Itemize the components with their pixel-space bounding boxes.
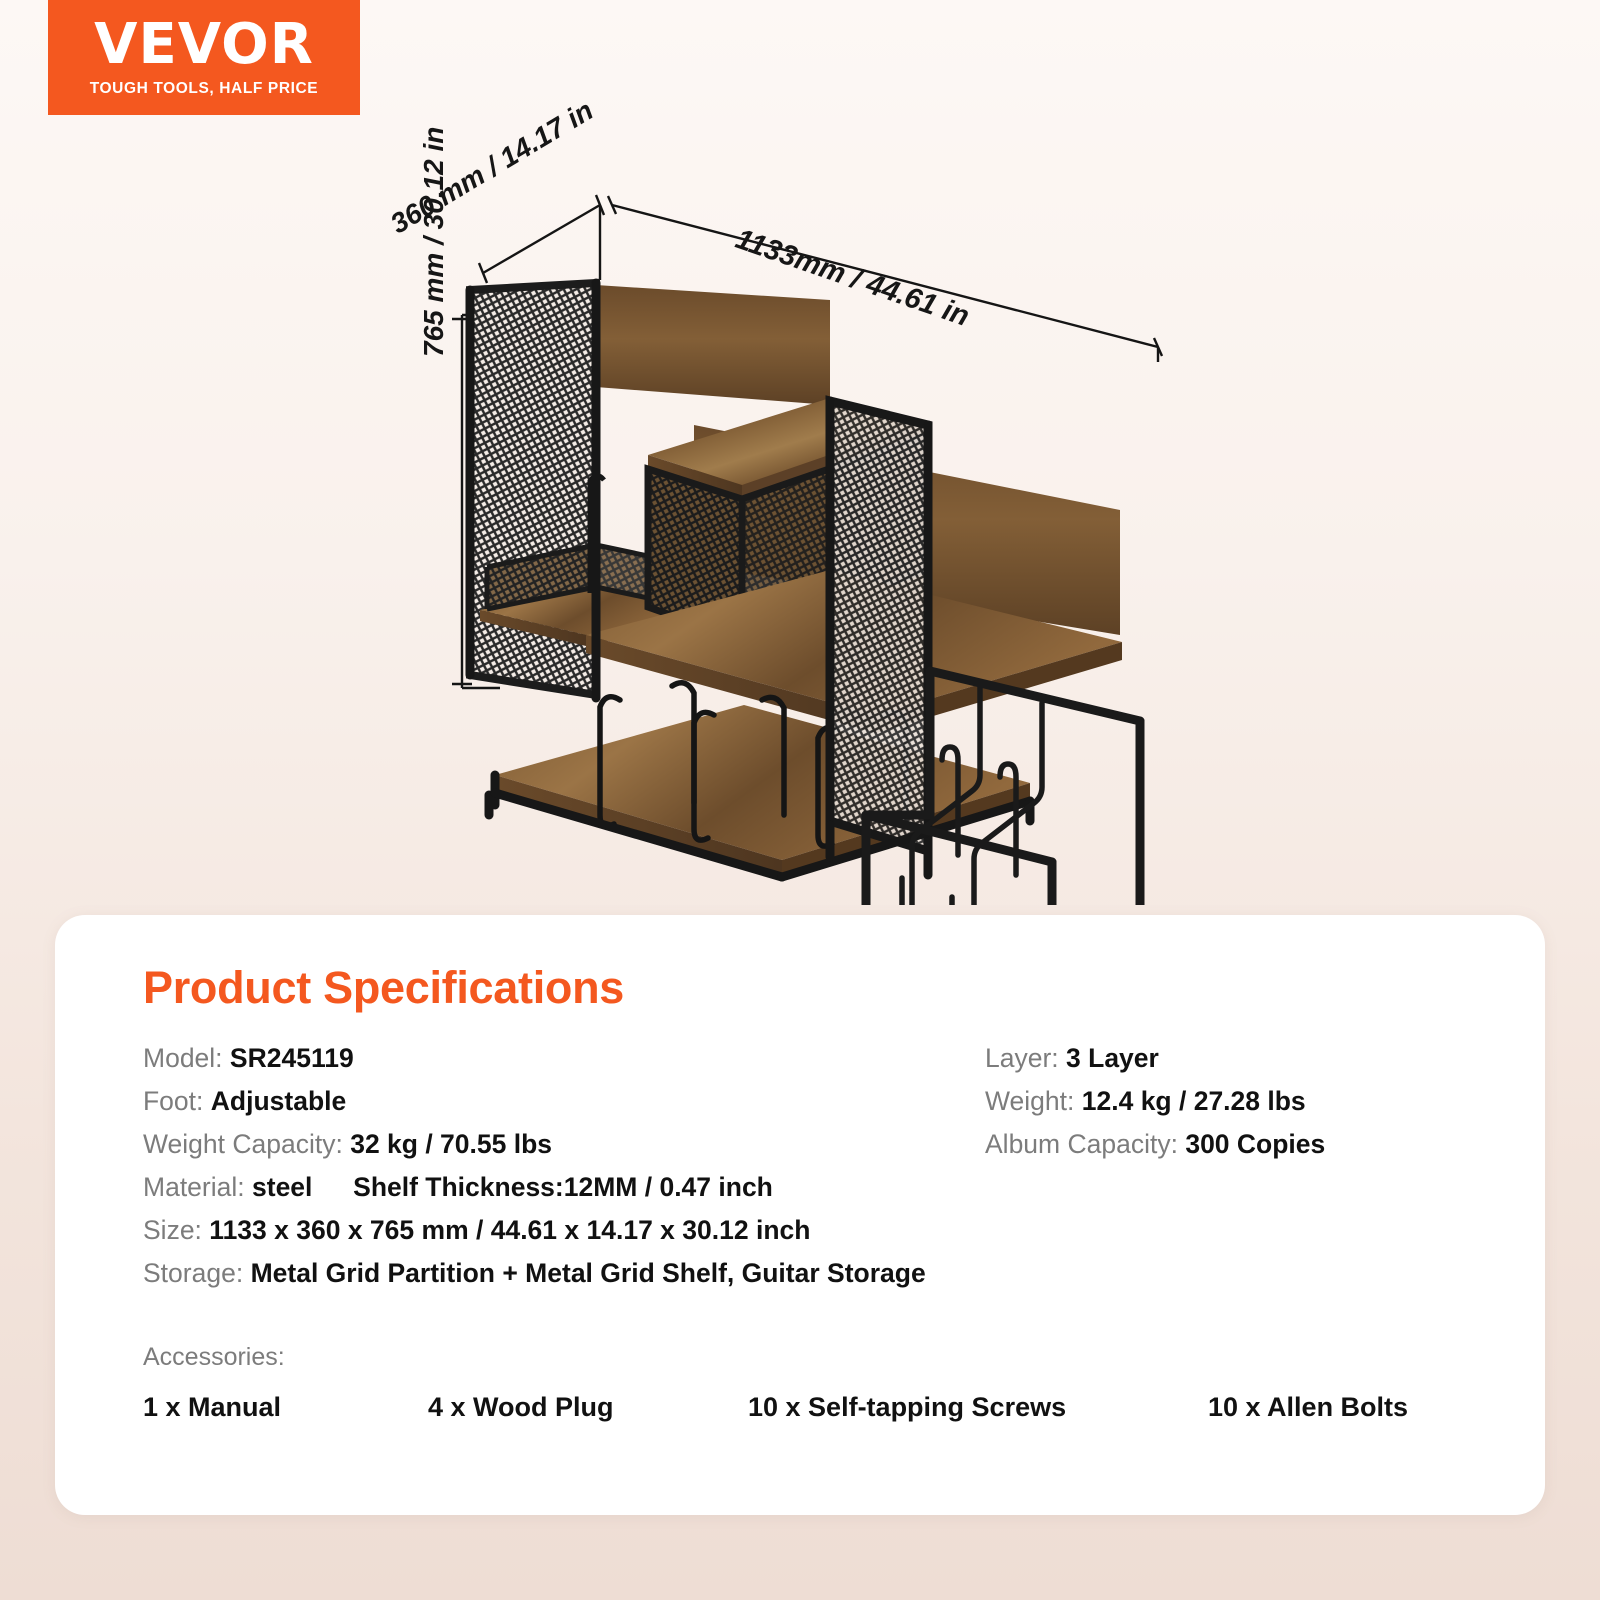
spec-row-album-capacity: Album Capacity: 300 Copies bbox=[985, 1123, 1505, 1166]
spec-label-model: Model: bbox=[143, 1043, 223, 1073]
spec-row-layer: Layer: 3 Layer bbox=[985, 1037, 1505, 1080]
spec-label-weight: Weight: bbox=[985, 1086, 1074, 1116]
accessory-item: 10 x Self-tapping Screws bbox=[748, 1392, 1208, 1423]
brand-logo: VEVOR TOUGH TOOLS, HALF PRICE bbox=[48, 0, 360, 115]
accessories-list: 1 x Manual 4 x Wood Plug 10 x Self-tappi… bbox=[143, 1392, 1473, 1423]
accessories-section: Accessories: 1 x Manual 4 x Wood Plug 10… bbox=[143, 1343, 1473, 1423]
accessories-title: Accessories: bbox=[143, 1343, 1473, 1372]
spec-value-material: steel bbox=[252, 1172, 312, 1202]
spec-row-weight: Weight: 12.4 kg / 27.28 lbs bbox=[985, 1080, 1505, 1123]
specs-right-column: Layer: 3 Layer Weight: 12.4 kg / 27.28 l… bbox=[985, 1037, 1505, 1166]
spec-value-model: SR245119 bbox=[230, 1043, 354, 1073]
spec-label-storage: Storage: bbox=[143, 1258, 243, 1288]
product-specifications-card: Product Specifications Model: SR245119 F… bbox=[55, 915, 1545, 1515]
spec-value-layer: 3 Layer bbox=[1066, 1043, 1159, 1073]
spec-value-weight-capacity: 32 kg / 70.55 lbs bbox=[350, 1129, 552, 1159]
spec-value-album-capacity: 300 Copies bbox=[1185, 1129, 1325, 1159]
accessory-item: 1 x Manual bbox=[143, 1392, 428, 1423]
spec-label-album-capacity: Album Capacity: bbox=[985, 1129, 1178, 1159]
spec-row-material: Material: steel Shelf Thickness:12MM / 0… bbox=[143, 1166, 973, 1209]
spec-value-size: 1133 x 360 x 765 mm / 44.61 x 14.17 x 30… bbox=[209, 1215, 810, 1245]
spec-row-model: Model: SR245119 bbox=[143, 1037, 973, 1080]
spec-row-storage: Storage: Metal Grid Partition + Metal Gr… bbox=[143, 1252, 973, 1295]
spec-row-size: Size: 1133 x 360 x 765 mm / 44.61 x 14.1… bbox=[143, 1209, 973, 1252]
dimension-height-label: 765 mm / 30.12 in bbox=[418, 127, 450, 357]
spec-value-foot: Adjustable bbox=[211, 1086, 346, 1116]
specs-left-column: Model: SR245119 Foot: Adjustable Weight … bbox=[143, 1037, 973, 1295]
spec-row-foot: Foot: Adjustable bbox=[143, 1080, 973, 1123]
spec-label-material: Material: bbox=[143, 1172, 245, 1202]
accessory-item: 10 x Allen Bolts bbox=[1208, 1392, 1473, 1423]
spec-label-weight-capacity: Weight Capacity: bbox=[143, 1129, 343, 1159]
accessory-item: 4 x Wood Plug bbox=[428, 1392, 748, 1423]
product-diagram: 360 mm / 14.17 in 1133mm / 44.61 in 765 … bbox=[0, 115, 1600, 905]
spec-label-layer: Layer: bbox=[985, 1043, 1059, 1073]
page-title: Product Specifications bbox=[143, 962, 624, 1014]
brand-tagline: TOUGH TOOLS, HALF PRICE bbox=[90, 80, 319, 98]
spec-row-weight-capacity: Weight Capacity: 32 kg / 70.55 lbs bbox=[143, 1123, 973, 1166]
spec-label-foot: Foot: bbox=[143, 1086, 203, 1116]
spec-value-storage: Metal Grid Partition + Metal Grid Shelf,… bbox=[251, 1258, 926, 1288]
brand-name: VEVOR bbox=[94, 17, 314, 73]
spec-value-shelf-thickness: Shelf Thickness:12MM / 0.47 inch bbox=[353, 1172, 773, 1202]
spec-value-weight: 12.4 kg / 27.28 lbs bbox=[1082, 1086, 1306, 1116]
product-illustration bbox=[0, 115, 1600, 905]
spec-label-size: Size: bbox=[143, 1215, 202, 1245]
